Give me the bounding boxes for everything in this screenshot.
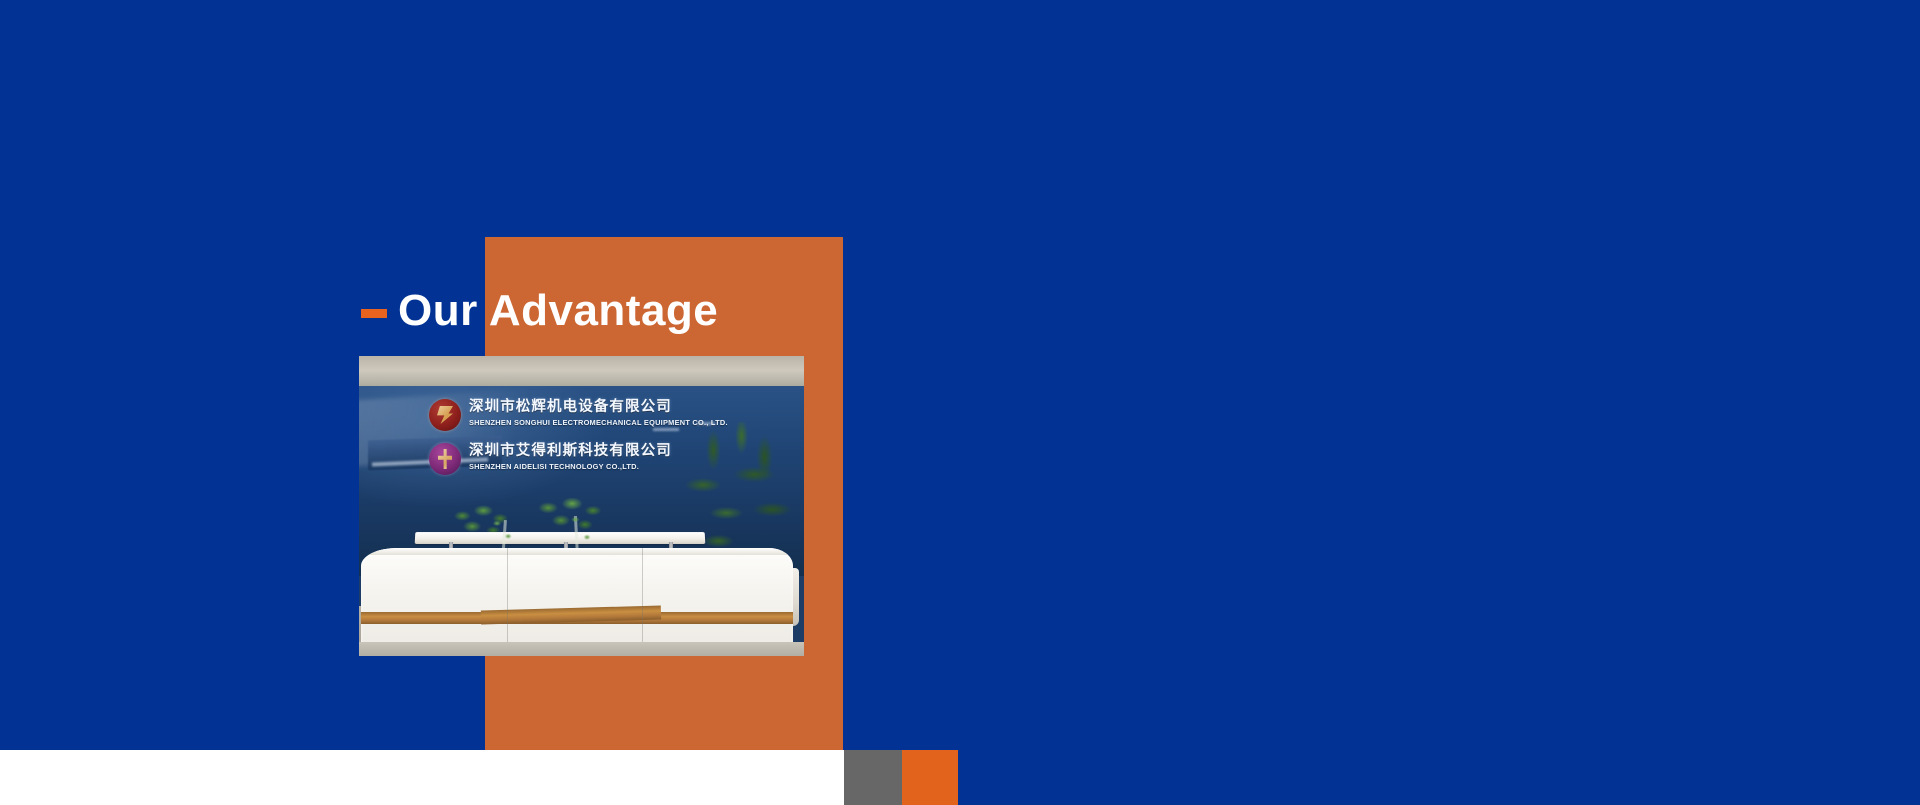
reception-desk-front: [361, 548, 793, 652]
reception-lobby-photo: 深圳市松辉机电设备有限公司 SHENZHEN SONGHUI ELECTROME…: [359, 356, 804, 656]
bottom-strip: [0, 750, 1920, 805]
company-wall-sign: 深圳市松辉机电设备有限公司 SHENZHEN SONGHUI ELECTROME…: [429, 398, 729, 486]
strip-segment-gray: [844, 750, 902, 805]
sign-english-name: SHENZHEN AIDELISI TECHNOLOGY CO.,LTD.: [469, 462, 639, 472]
strip-segment-orange: [902, 750, 958, 805]
desk-raised-counter: [415, 532, 706, 544]
songhui-logo-icon: [429, 399, 461, 431]
sign-row: 深圳市艾得利斯科技有限公司 SHENZHEN AIDELISI TECHNOLO…: [429, 442, 729, 480]
strip-segment-white: [0, 750, 844, 805]
page-title: Our Advantage: [361, 283, 718, 339]
slide-background: [0, 0, 1920, 805]
slide-canvas: Our Advantage 深圳市松辉机电设备有限公司 SHENZHEN SON…: [0, 0, 1920, 805]
photo-ceiling: [359, 356, 804, 388]
sign-chinese-name: 深圳市松辉机电设备有限公司: [469, 398, 672, 416]
sign-english-name: SHENZHEN SONGHUI ELECTROMECHANICAL EQUIP…: [469, 418, 728, 428]
desk-panel-seam: [507, 548, 508, 652]
aidelisi-logo-icon: [429, 443, 461, 475]
title-dash-icon: [361, 309, 387, 318]
sign-row: 深圳市松辉机电设备有限公司 SHENZHEN SONGHUI ELECTROME…: [429, 398, 729, 436]
sign-chinese-name: 深圳市艾得利斯科技有限公司: [469, 442, 672, 460]
desk-top-edge: [361, 548, 793, 555]
desk-panel-seam: [642, 548, 643, 652]
strip-segment-blue: [958, 750, 1920, 805]
photo-floor: [359, 642, 804, 656]
page-title-label: Our Advantage: [398, 289, 718, 333]
